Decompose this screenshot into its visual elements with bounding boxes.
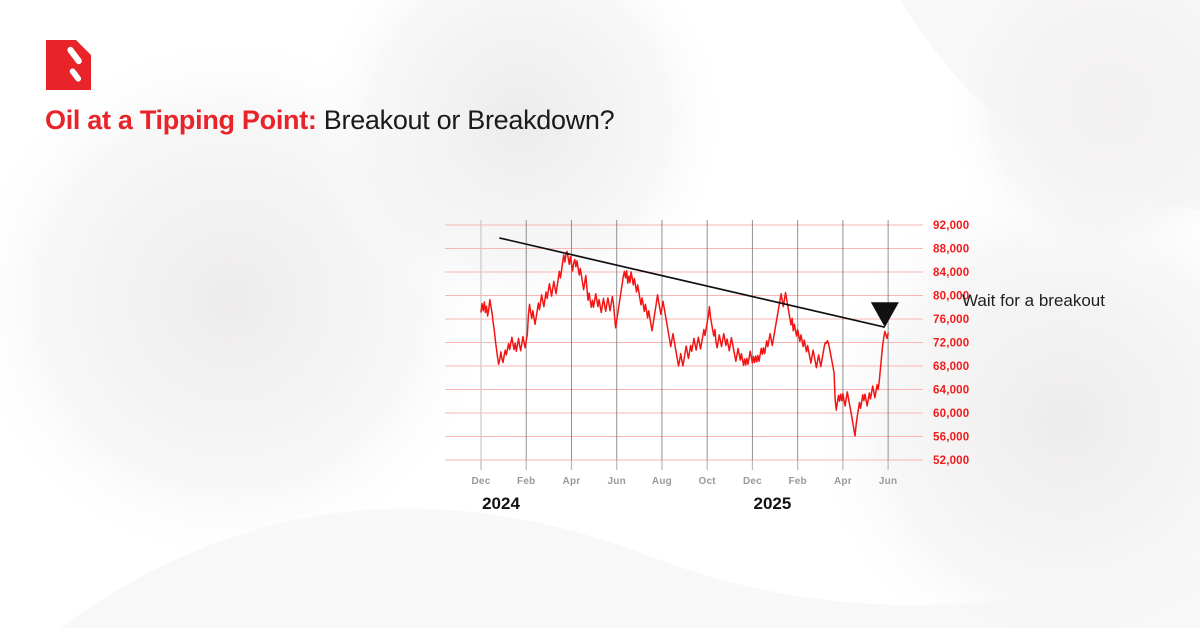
price-chart: 92,00088,00084,00080,00076,00072,00068,0… — [440, 195, 980, 525]
page-title: Oil at a Tipping Point: Breakout or Brea… — [45, 104, 614, 136]
svg-text:64,000: 64,000 — [933, 385, 969, 397]
svg-text:Aug: Aug — [652, 476, 672, 487]
svg-text:84,000: 84,000 — [933, 267, 969, 279]
chart-canvas: 92,00088,00084,00080,00076,00072,00068,0… — [440, 195, 980, 525]
svg-text:Apr: Apr — [563, 476, 581, 487]
svg-text:56,000: 56,000 — [933, 432, 969, 444]
svg-text:60,000: 60,000 — [933, 408, 969, 420]
page-title-highlight: Oil at a Tipping Point: — [45, 105, 317, 135]
svg-text:68,000: 68,000 — [933, 361, 969, 373]
svg-text:Feb: Feb — [517, 476, 535, 487]
svg-text:2025: 2025 — [754, 494, 792, 513]
brand-logo-icon — [46, 40, 91, 90]
svg-text:72,000: 72,000 — [933, 338, 969, 350]
svg-text:Dec: Dec — [472, 476, 491, 487]
svg-text:52,000: 52,000 — [933, 455, 969, 467]
vertical-gridlines — [481, 220, 888, 460]
svg-text:Apr: Apr — [834, 476, 852, 487]
svg-text:2024: 2024 — [482, 494, 520, 513]
svg-text:Jun: Jun — [608, 476, 626, 487]
svg-text:Jun: Jun — [879, 476, 897, 487]
x-axis-tickmarks — [481, 460, 888, 470]
y-axis-labels: 92,00088,00084,00080,00076,00072,00068,0… — [933, 220, 969, 467]
page-title-rest: Breakout or Breakdown? — [317, 105, 615, 135]
breakout-annotation-label: Wait for a breakout — [962, 291, 1105, 311]
x-axis-year-labels: 20242025 — [482, 494, 791, 513]
down-triangle-marker-icon — [871, 302, 899, 327]
svg-text:92,000: 92,000 — [933, 220, 969, 232]
svg-text:Feb: Feb — [788, 476, 806, 487]
svg-text:Dec: Dec — [743, 476, 762, 487]
svg-text:Oct: Oct — [699, 476, 717, 487]
x-axis-labels: DecFebAprJunAugOctDecFebAprJun — [472, 476, 898, 487]
horizontal-gridlines — [445, 225, 923, 460]
svg-text:76,000: 76,000 — [933, 314, 969, 326]
price-series-line — [481, 251, 888, 435]
svg-text:88,000: 88,000 — [933, 244, 969, 256]
